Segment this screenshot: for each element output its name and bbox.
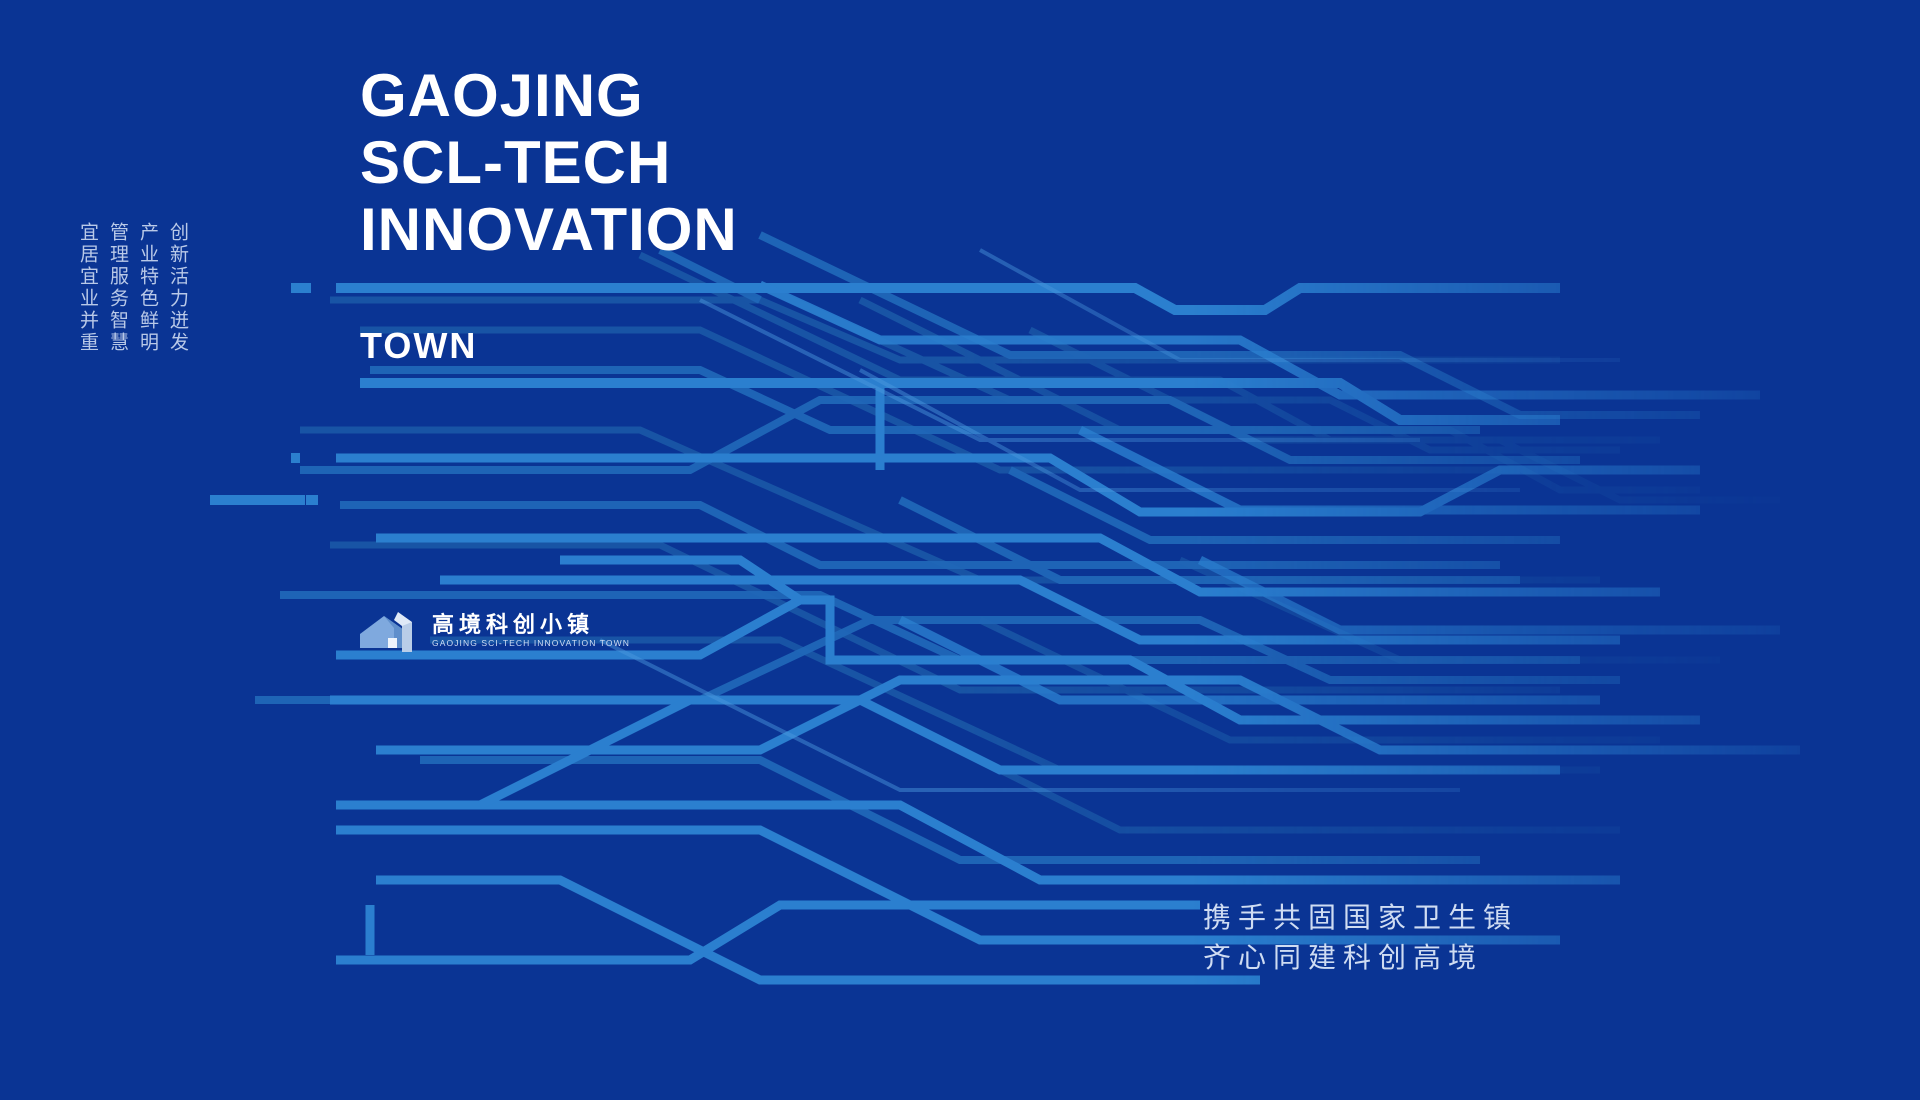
circuit-trace-artwork [0,0,1920,1100]
brand-logo-text: 高境科创小镇 GAOJING SCI-TECH INNOVATION TOWN [432,614,630,648]
campaign-slogan-line-2: 齐心同建科创高境 [1203,938,1518,978]
vertical-slogan-line-3: 管理服务智慧 [108,222,127,354]
brand-name-en: GAOJING SCI-TECH INNOVATION TOWN [432,639,630,648]
title-line-1: GAOJING [360,62,738,129]
poster-canvas: 创新活力迸发 产业特色鲜明 管理服务智慧 宜居宜业并重 GAOJING SCL-… [0,0,1920,1100]
house-building-mark-icon [358,608,420,654]
title-line-2: SCL-TECH [360,129,738,196]
vertical-slogan-line-4: 宜居宜业并重 [78,222,97,354]
campaign-slogan-line-1: 携手共固国家卫生镇 [1203,898,1518,938]
title-subtitle-town: TOWN [360,325,477,367]
vertical-slogan-line-2: 产业特色鲜明 [138,222,157,354]
vertical-slogan-block: 创新活力迸发 产业特色鲜明 管理服务智慧 宜居宜业并重 [78,222,187,354]
vertical-slogan-line-1: 创新活力迸发 [168,222,187,354]
page-title: GAOJING SCL-TECH INNOVATION [360,62,738,264]
brand-name-cn: 高境科创小镇 [432,614,630,636]
title-line-3: INNOVATION [360,196,738,263]
brand-logo: 高境科创小镇 GAOJING SCI-TECH INNOVATION TOWN [358,608,630,654]
campaign-slogan: 携手共固国家卫生镇 齐心同建科创高境 [1203,898,1518,978]
